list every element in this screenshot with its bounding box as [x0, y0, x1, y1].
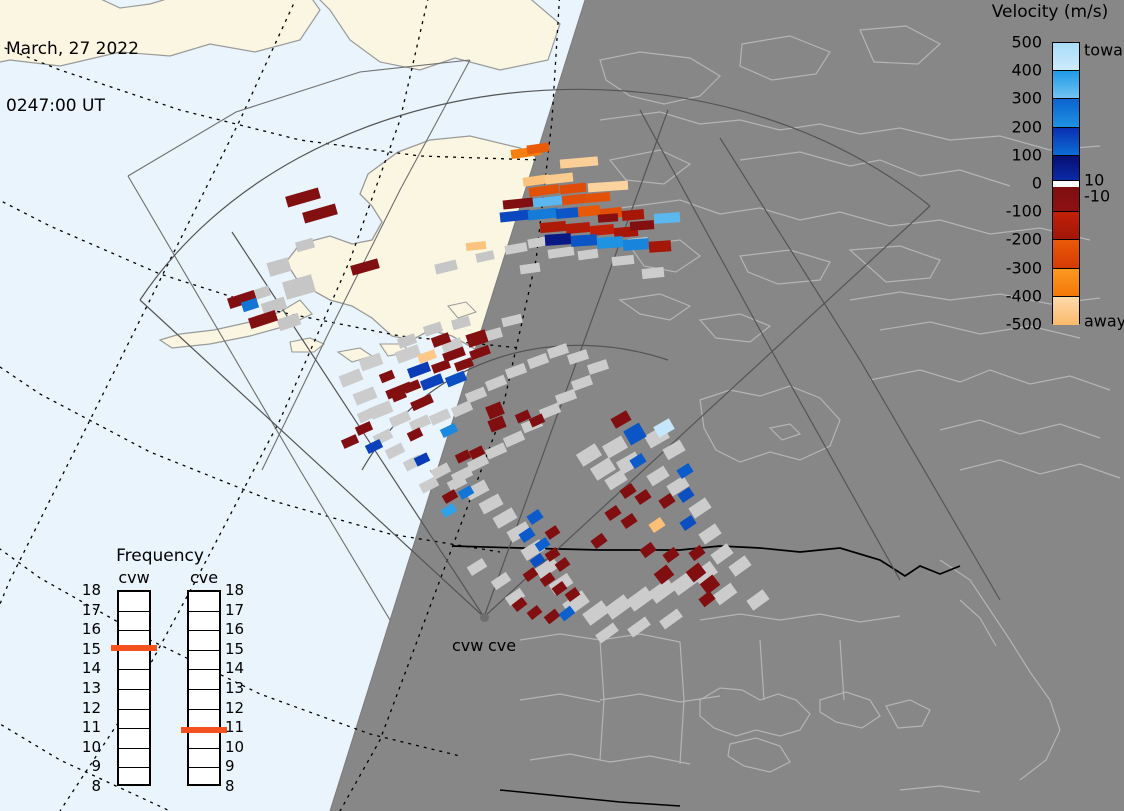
frequency-cell	[119, 592, 149, 612]
colorbar-segment	[1053, 212, 1079, 240]
frequency-panel-title: Frequency	[75, 546, 245, 566]
velocity-colorbar	[1052, 42, 1080, 324]
velocity-cell	[590, 224, 615, 236]
frequency-panel: Frequency cvw18171615141312111098cve1817…	[75, 546, 245, 796]
frequency-cell	[119, 768, 149, 788]
velocity-legend-notes: toward10-10away	[1084, 42, 1124, 324]
velocity-cell	[578, 205, 601, 217]
fan-plot-canvas: March, 27 2022 0247:00 UT Velocity (m/s)…	[0, 0, 1124, 811]
colorbar-tick-label: 500	[1011, 33, 1042, 52]
radar-site-label-cve: cve	[488, 636, 516, 655]
velocity-legend-title: Velocity (m/s)	[980, 2, 1120, 22]
velocity-cell	[556, 207, 581, 219]
velocity-cell	[630, 220, 655, 231]
frequency-scale-label: 16	[82, 620, 101, 638]
date-label: March, 27 2022	[6, 40, 139, 59]
velocity-cell	[566, 222, 591, 234]
radar-site-marker	[480, 613, 489, 622]
colorbar-tick-label: 200	[1011, 117, 1042, 136]
colorbar-segment	[1053, 43, 1079, 71]
colorbar-note-toward: toward	[1084, 41, 1124, 60]
frequency-bar-cve	[187, 590, 221, 786]
frequency-scale-label: 17	[225, 601, 244, 619]
colorbar-segment	[1053, 269, 1079, 297]
frequency-scale-cvw: 18171615141312111098	[77, 590, 101, 786]
frequency-scale-label: 8	[225, 777, 235, 795]
velocity-cell	[571, 234, 598, 247]
colorbar-tick-label: -500	[1006, 315, 1042, 334]
colorbar-note-10: -10	[1084, 186, 1110, 205]
colorbar-tick-label: -200	[1006, 230, 1042, 249]
velocity-cell	[654, 212, 681, 224]
velocity-cell	[545, 233, 572, 246]
frequency-scale-label: 15	[225, 640, 244, 658]
frequency-bar-cvw	[117, 590, 151, 786]
velocity-legend-ticks: 5004003002001000-100-200-300-400-500	[980, 42, 1046, 324]
colorbar-segment	[1053, 71, 1079, 99]
timestamp-block: March, 27 2022 0247:00 UT	[6, 2, 139, 154]
frequency-scale-label: 11	[82, 718, 101, 736]
frequency-scale-label: 17	[82, 601, 101, 619]
radar-site-label-cvw: cvw	[452, 636, 483, 655]
colorbar-tick-label: 400	[1011, 61, 1042, 80]
colorbar-segment	[1053, 297, 1079, 325]
frequency-scale-label: 16	[225, 620, 244, 638]
frequency-scale-label: 13	[82, 679, 101, 697]
time-label: 0247:00 UT	[6, 97, 139, 116]
colorbar-tick-label: 0	[1032, 174, 1042, 193]
frequency-cell	[119, 612, 149, 632]
frequency-marker-cvw	[111, 645, 157, 651]
frequency-cell	[189, 592, 219, 612]
velocity-legend: Velocity (m/s) 5004003002001000-100-200-…	[980, 2, 1124, 332]
colorbar-tick-label: 100	[1011, 145, 1042, 164]
frequency-scale-label: 18	[82, 581, 101, 599]
frequency-scale-label: 12	[82, 699, 101, 717]
frequency-cell	[119, 670, 149, 690]
frequency-scale-label: 14	[82, 659, 101, 677]
velocity-cell	[598, 213, 619, 222]
frequency-scale-label: 18	[225, 581, 244, 599]
frequency-cell	[119, 690, 149, 710]
frequency-cell	[189, 631, 219, 651]
frequency-scale-label: 14	[225, 659, 244, 677]
velocity-cell	[623, 238, 650, 251]
frequency-column-name-cvw: cvw	[101, 568, 167, 587]
velocity-cell	[622, 209, 645, 221]
frequency-marker-cve	[181, 727, 227, 733]
colorbar-segment	[1053, 187, 1079, 212]
colorbar-tick-label: -300	[1006, 258, 1042, 277]
colorbar-segment	[1053, 156, 1079, 181]
colorbar-segment	[1053, 99, 1079, 127]
frequency-scale-label: 9	[91, 757, 101, 775]
frequency-scale-label: 10	[225, 738, 244, 756]
velocity-cell	[649, 240, 672, 253]
frequency-cell	[119, 749, 149, 769]
colorbar-note-away: away	[1084, 312, 1124, 331]
frequency-cell	[189, 768, 219, 788]
colorbar-segment	[1053, 240, 1079, 268]
frequency-cell	[189, 651, 219, 671]
velocity-cell	[597, 236, 624, 249]
colorbar-tick-label: -400	[1006, 286, 1042, 305]
colorbar-segment	[1053, 128, 1079, 156]
colorbar-tick-label: 300	[1011, 89, 1042, 108]
frequency-cell	[189, 749, 219, 769]
frequency-cell	[189, 670, 219, 690]
frequency-cell	[119, 651, 149, 671]
frequency-cell	[119, 710, 149, 730]
colorbar-tick-label: -100	[1006, 202, 1042, 221]
frequency-scale-label: 12	[225, 699, 244, 717]
frequency-scale-label: 9	[225, 757, 235, 775]
frequency-cell	[189, 690, 219, 710]
frequency-scale-label: 10	[82, 738, 101, 756]
frequency-cell	[189, 612, 219, 632]
frequency-scale-label: 13	[225, 679, 244, 697]
frequency-cell	[119, 729, 149, 749]
frequency-scale-label: 11	[225, 718, 244, 736]
frequency-scale-label: 15	[82, 640, 101, 658]
frequency-scale-label: 8	[91, 777, 101, 795]
frequency-scale-cve: 18171615141312111098	[225, 590, 249, 786]
